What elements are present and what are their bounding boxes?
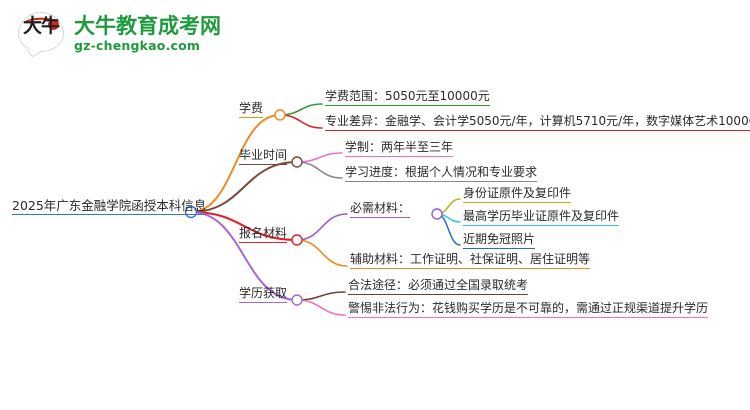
mindmap-branch-graduation-time[interactable]: 毕业时间 xyxy=(239,148,287,165)
mindmap-leaf-legal-path[interactable]: 合法途径：必须通过全国录取统考 xyxy=(348,278,528,295)
mindmap-branch-tuition[interactable]: 学费 xyxy=(239,101,263,118)
mindmap-leaf-id-card[interactable]: 身份证原件及复印件 xyxy=(463,186,571,203)
mindmap-leaf-supporting-materials[interactable]: 辅助材料：工作证明、社保证明、居住证明等 xyxy=(350,252,590,269)
mindmap-branch-degree-acquisition[interactable]: 学历获取 xyxy=(239,286,287,303)
mindmap-root-node[interactable]: 2025年广东金融学院函授本科信息 xyxy=(12,198,206,215)
mindmap-branch-application-materials[interactable]: 报名材料 xyxy=(239,226,287,243)
mindmap-leaf-study-pace[interactable]: 学习进度：根据个人情况和专业要求 xyxy=(345,165,537,182)
mindmap-leaf-illegal-warning[interactable]: 警惕非法行为：花钱购买学历是不可靠的，需通过正规渠道提升学历 xyxy=(348,301,708,318)
mindmap-leaf-tuition-by-major[interactable]: 专业差异：金融学、会计学5050元/年，计算机5710元/年，数字媒体艺术100… xyxy=(325,114,750,131)
mindmap-subbranch-required-materials[interactable]: 必需材料： xyxy=(350,201,410,218)
mindmap-canvas: 2025年广东金融学院函授本科信息 学费 学费范围：5050元至10000元 专… xyxy=(0,0,750,410)
mindmap-leaf-tuition-range[interactable]: 学费范围：5050元至10000元 xyxy=(325,89,490,106)
mindmap-leaf-program-length[interactable]: 学制：两年半至三年 xyxy=(345,140,453,157)
mindmap-leaf-recent-photo[interactable]: 近期免冠照片 xyxy=(463,232,535,249)
mindmap-leaf-highest-diploma[interactable]: 最高学历毕业证原件及复印件 xyxy=(463,209,619,226)
